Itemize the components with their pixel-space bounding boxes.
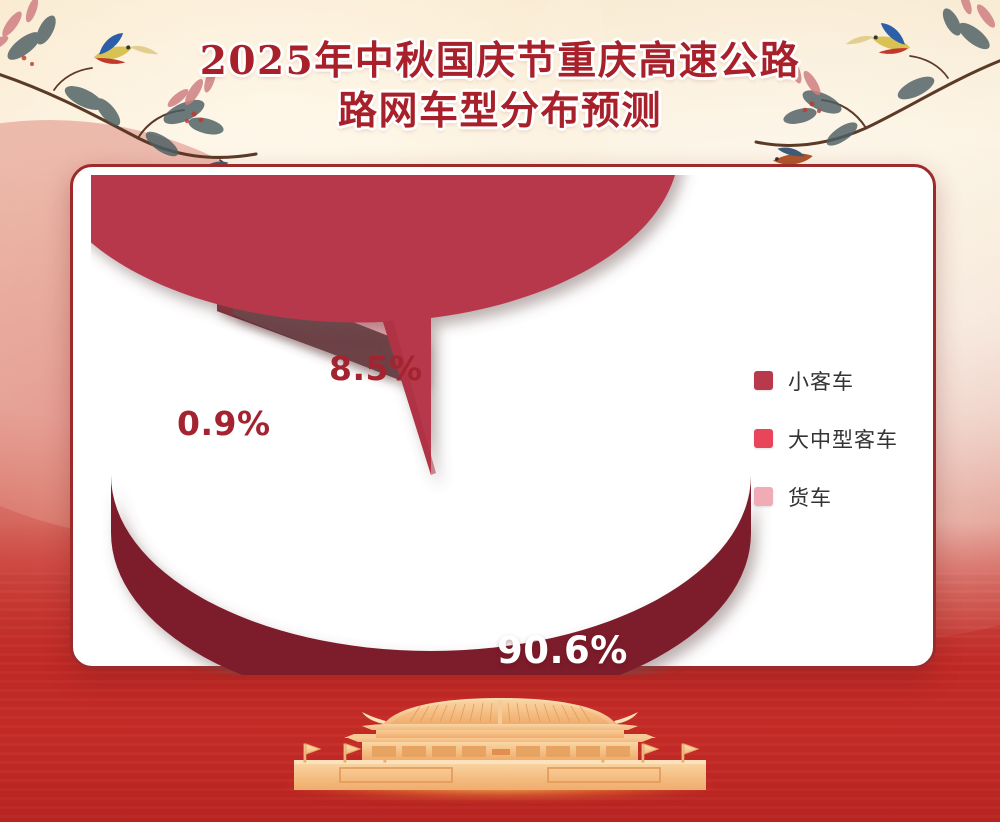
poster-root: 2025年中秋国庆节重庆高速公路 路网车型分布预测 [0,0,1000,822]
pie-label-xiaokeche: 90.6% [497,629,628,672]
page-title: 2025年中秋国庆节重庆高速公路 路网车型分布预测 [0,36,1000,136]
legend-label-dazhongxing: 大中型客车 [788,424,898,454]
pie-label-dazhongxing: 0.9% [177,404,271,443]
legend-item-huoche[interactable]: 货车 [754,482,898,511]
legend-label-xiaokeche: 小客车 [788,366,854,396]
title-line-1: 2025年中秋国庆节重庆高速公路 [0,36,1000,86]
legend-swatch-xiaokeche [754,371,773,390]
tiananmen-gate-icon [244,694,756,794]
title-line-2: 路网车型分布预测 [0,86,1000,136]
chart-legend: 小客车 大中型客车 货车 [754,366,898,540]
legend-item-xiaokeche[interactable]: 小客车 [754,366,898,395]
chart-card: 0.9% 8.5% 90.6% 小客车 大中型客车 货车 [70,164,936,669]
legend-swatch-dazhongxing [754,429,773,448]
pie-chart: 0.9% 8.5% 90.6% 小客车 大中型客车 货车 [73,167,933,666]
pie-label-huoche: 8.5% [329,349,423,388]
legend-label-huoche: 货车 [788,482,832,512]
legend-swatch-huoche [754,487,773,506]
legend-item-dazhongxing[interactable]: 大中型客车 [754,424,898,453]
